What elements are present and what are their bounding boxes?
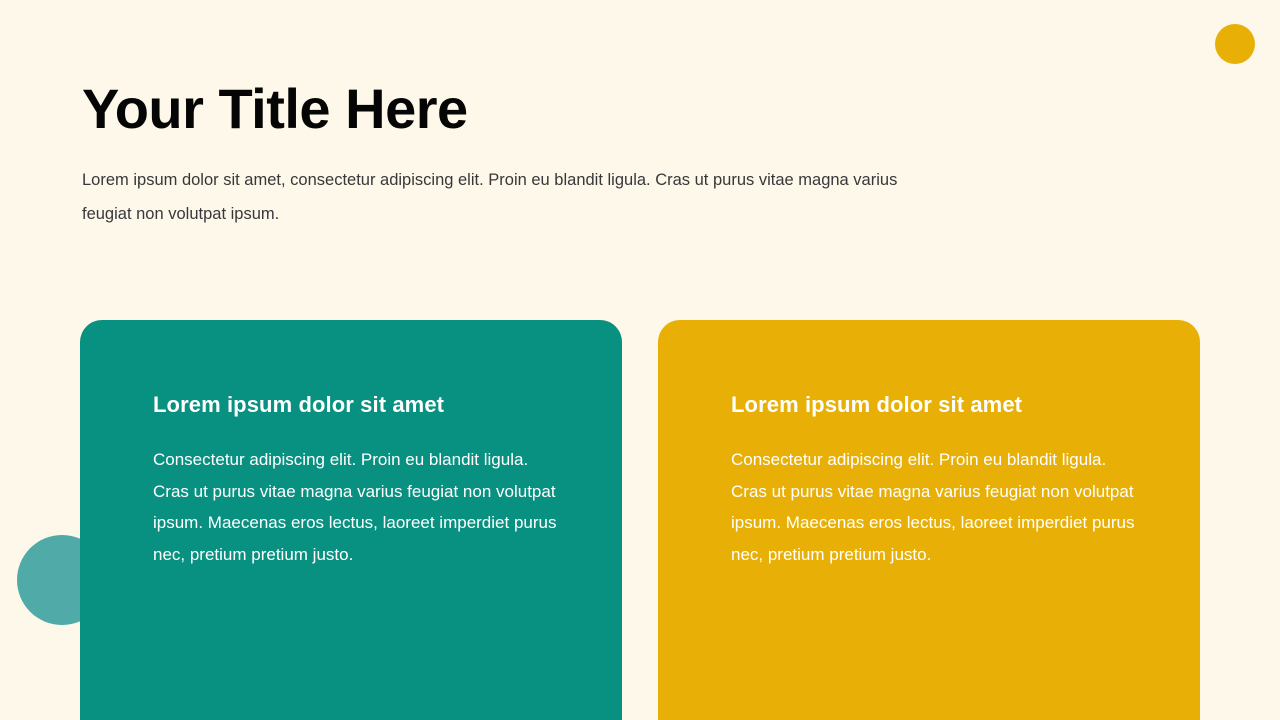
card-body-text: Consectetur adipiscing elit. Proin eu bl… xyxy=(153,418,563,570)
decorative-circle-top-right xyxy=(1215,24,1255,64)
card-heading: Lorem ipsum dolor sit amet xyxy=(153,392,564,418)
card-heading: Lorem ipsum dolor sit amet xyxy=(731,392,1142,418)
page-title: Your Title Here xyxy=(82,78,982,140)
header-block: Your Title Here Lorem ipsum dolor sit am… xyxy=(82,78,982,231)
slide-canvas: Your Title Here Lorem ipsum dolor sit am… xyxy=(0,0,1280,720)
card-body-text: Consectetur adipiscing elit. Proin eu bl… xyxy=(731,418,1141,570)
content-card-primary[interactable]: Lorem ipsum dolor sit amet Consectetur a… xyxy=(80,320,622,720)
page-subtitle: Lorem ipsum dolor sit amet, consectetur … xyxy=(82,140,922,231)
content-card-secondary[interactable]: Lorem ipsum dolor sit amet Consectetur a… xyxy=(658,320,1200,720)
